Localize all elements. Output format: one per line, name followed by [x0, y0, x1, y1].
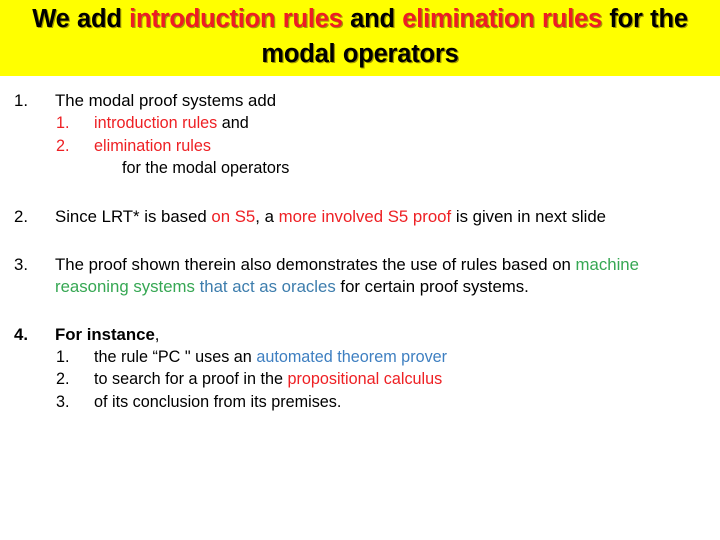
item-4-part-comma: , [155, 325, 160, 344]
title-part-and: and [343, 5, 403, 33]
sub-1-1-part-introduction-rules: introduction rules [94, 114, 217, 132]
list-item-4-sub-2: 2. to search for a proof in the proposit… [14, 368, 706, 391]
list-item-4-sub-3-number: 3. [56, 391, 94, 414]
list-item-1: 1. The modal proof systems add [14, 90, 706, 112]
list-item-3: 3. The proof shown therein also demonstr… [14, 254, 706, 298]
slide-title: We add introduction rules and eliminatio… [18, 2, 702, 72]
item-4-part-for-instance: For instance [55, 325, 155, 344]
slide-title-banner: We add introduction rules and eliminatio… [0, 0, 720, 76]
list-item-3-text: The proof shown therein also demonstrate… [55, 254, 706, 298]
list-item-4-sub-1-number: 1. [56, 346, 94, 369]
list-item-4-sub-2-number: 2. [56, 368, 94, 391]
list-item-1-number: 1. [14, 90, 55, 112]
list-item-4-sub-3-text: of its conclusion from its premises. [94, 391, 706, 414]
item-3-part-that-act-as-oracles: that act as oracles [195, 277, 336, 296]
list-item-4-sub-3: 3. of its conclusion from its premises. [14, 391, 706, 414]
list-item-1-sub-1-number: 1. [56, 112, 94, 135]
title-part-we-add: We add [32, 5, 129, 33]
sub-1-2-part-elimination-rules: elimination rules [94, 137, 211, 155]
list-item-1-sub-2-number: 2. [56, 135, 94, 158]
list-item-4-number: 4. [14, 324, 55, 346]
list-item-4-sub-2-text: to search for a proof in the proposition… [94, 368, 706, 391]
list-item-1-continuation: for the modal operators [14, 157, 706, 180]
sub-1-1-part-and: and [217, 114, 249, 132]
list-item-1-sub-1-text: introduction rules and [94, 112, 706, 135]
sub-4-1-part-automated-theorem-prover: automated theorem prover [256, 348, 447, 366]
item-3-part-proof-shown: The proof shown therein also demonstrate… [55, 255, 576, 274]
item-2-part-more-involved-s5-proof: more involved S5 proof [279, 207, 452, 226]
item-2-part-comma-a: , a [255, 207, 278, 226]
list-item-4-sub-1-text: the rule “PC " uses an automated theorem… [94, 346, 706, 369]
item-2-part-since-lrt: Since LRT* is based [55, 207, 211, 226]
sub-4-1-part-rule-pc: the rule “PC " uses an [94, 348, 256, 366]
list-item-4-sub-1: 1. the rule “PC " uses an automated theo… [14, 346, 706, 369]
list-item-1-sub-2: 2. elimination rules [14, 135, 706, 158]
list-item-2: 2. Since LRT* is based on S5, a more inv… [14, 206, 706, 228]
list-item-2-text: Since LRT* is based on S5, a more involv… [55, 206, 706, 228]
spacer-after-item-3 [14, 298, 706, 324]
list-item-1-sub-2-text: elimination rules [94, 135, 706, 158]
list-item-1-sub-1: 1. introduction rules and [14, 112, 706, 135]
list-item-4-text: For instance, [55, 324, 706, 346]
item-3-part-certain-proof-systems: for certain proof systems. [336, 277, 529, 296]
sub-4-2-part-propositional-calculus: propositional calculus [287, 370, 442, 388]
list-item-3-number: 3. [14, 254, 55, 276]
sub-4-2-part-to-search: to search for a proof in the [94, 370, 287, 388]
item-2-part-on-s5: on S5 [211, 207, 255, 226]
title-part-introduction-rules: introduction rules [129, 5, 343, 33]
spacer-after-item-1 [14, 180, 706, 206]
spacer-after-item-2 [14, 228, 706, 254]
title-part-elimination-rules: elimination rules [402, 5, 602, 33]
list-item-4: 4. For instance, [14, 324, 706, 346]
item-2-part-given-next-slide: is given in next slide [451, 207, 606, 226]
list-item-2-number: 2. [14, 206, 55, 228]
list-item-1-text: The modal proof systems add [55, 90, 706, 112]
sub-4-3-part-conclusion-premises: of its conclusion from its premises. [94, 393, 341, 411]
slide-body: 1. The modal proof systems add 1. introd… [0, 76, 720, 413]
